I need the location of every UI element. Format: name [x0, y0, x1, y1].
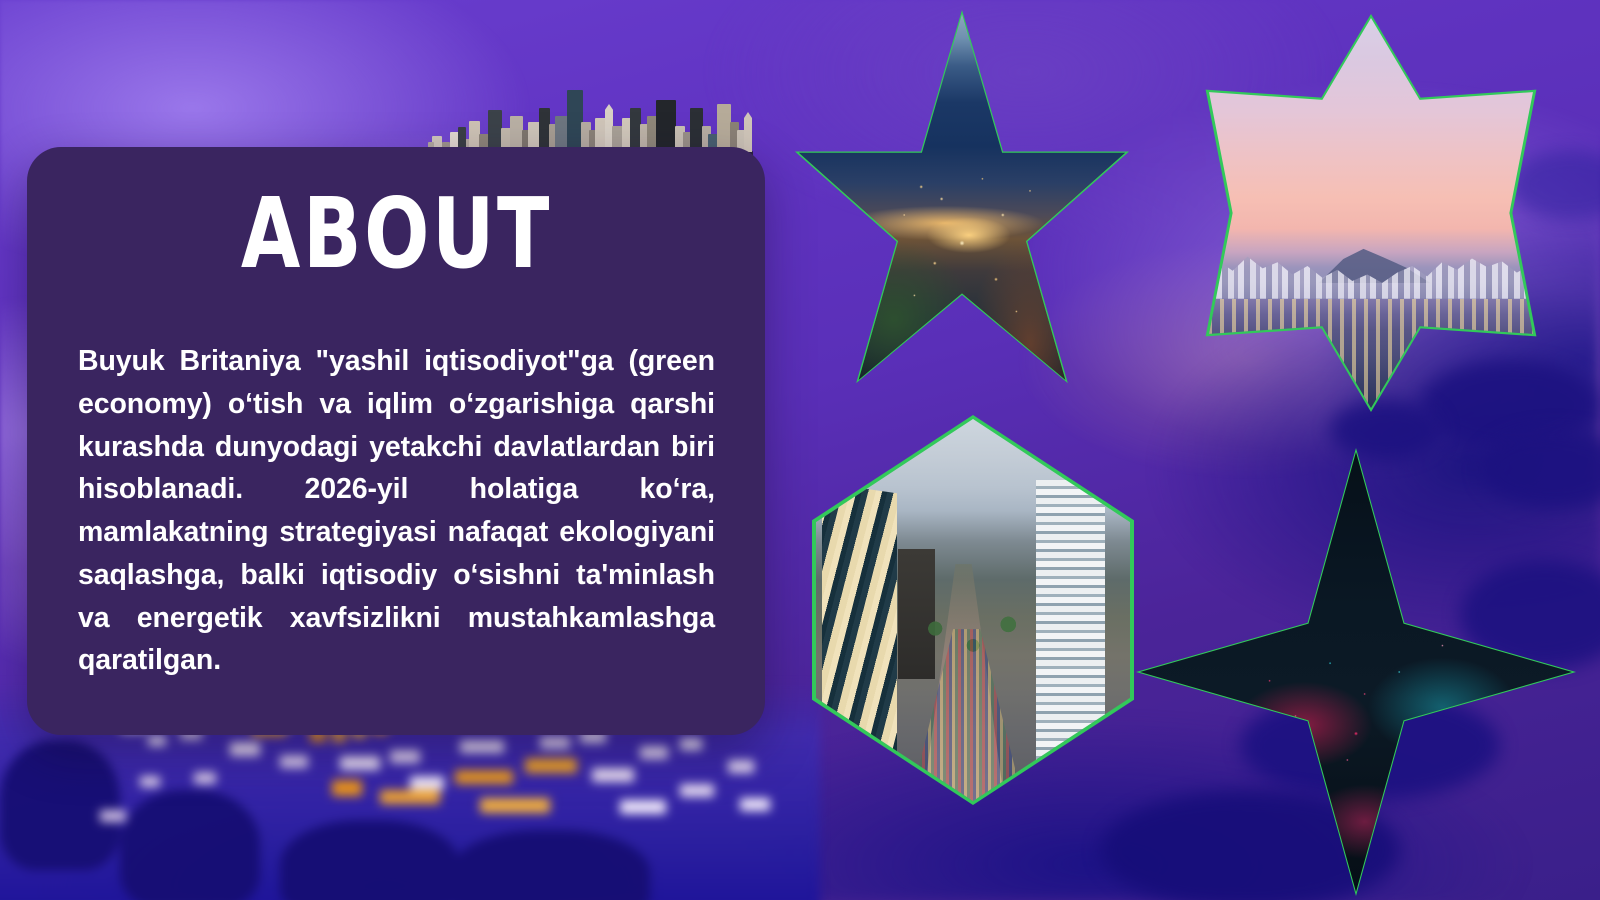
city-skyline-graphic: [428, 72, 753, 157]
page-title: ABOUT: [116, 185, 677, 282]
star4-photo: [1140, 452, 1572, 892]
photo-star6-sunset[interactable]: [1180, 14, 1562, 412]
star5-photo: [792, 14, 1132, 416]
photo-hexagon-boulevard[interactable]: [812, 415, 1134, 805]
star6-photo: [1184, 18, 1558, 408]
slide-canvas: ABOUT Buyuk Britaniya "yashil iqtisodiyo…: [0, 0, 1600, 900]
about-card: ABOUT Buyuk Britaniya "yashil iqtisodiyo…: [27, 147, 765, 735]
photo-star5-highway[interactable]: [788, 10, 1136, 420]
hexagon-photo: [816, 419, 1130, 801]
photo-star4-neon[interactable]: [1136, 448, 1576, 896]
about-body-text: Buyuk Britaniya "yashil iqtisodiyot"ga (…: [78, 340, 715, 682]
